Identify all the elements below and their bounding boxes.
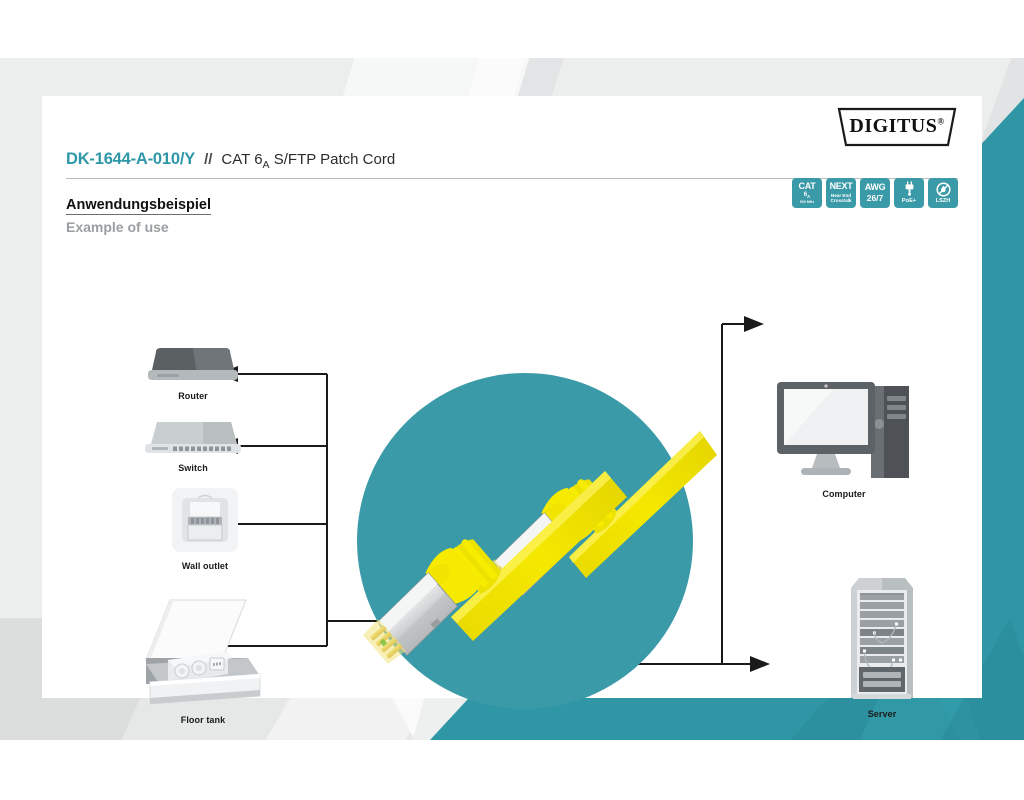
logo-wordmark: DIGITUS®: [836, 115, 958, 138]
badge-caption: LSZH: [936, 199, 951, 205]
switch-icon: [143, 418, 243, 458]
floor-tank-icon: [136, 598, 270, 710]
device-label: Wall outlet: [150, 561, 260, 571]
router-icon: [144, 346, 242, 386]
wall-outlet-icon: [168, 484, 242, 556]
lszh-badge: LSZH: [928, 178, 958, 208]
title-separator: //: [204, 151, 212, 168]
awg-badge: AWG 26/7: [860, 178, 890, 208]
device-label: Switch: [138, 463, 248, 473]
product-sku: DK-1644-A-010/Y: [66, 150, 195, 169]
digitus-logo: DIGITUS®: [836, 106, 958, 148]
device-label: Floor tank: [118, 715, 288, 725]
section-heading: Anwendungsbeispiel Example of use: [66, 196, 211, 235]
section-title-de: Anwendungsbeispiel: [66, 197, 211, 215]
feature-badges: CAT 6A 500 MHz NEXT Near End Crosstalk A…: [792, 178, 958, 208]
arrowhead-server: [750, 656, 770, 672]
no-halogen-icon: [936, 182, 951, 197]
section-title-en: Example of use: [66, 219, 211, 235]
badge-line-1: NEXT: [830, 182, 853, 191]
device-switch: Switch: [138, 418, 248, 473]
computer-icon: [773, 376, 915, 484]
badge-line-3: 500 MHz: [800, 201, 814, 204]
cat6a-badge: CAT 6A 500 MHz: [792, 178, 822, 208]
arrowhead-computer: [744, 316, 764, 332]
product-title-row: DK-1644-A-010/Y // CAT 6A S/FTP Patch Co…: [66, 150, 958, 179]
device-label: Computer: [764, 489, 924, 499]
datasheet-page: DIGITUS® DK-1644-A-010/Y // CAT 6A S/FTP…: [0, 0, 1024, 800]
badge-line-1: AWG: [865, 183, 886, 192]
device-computer: Computer: [764, 376, 924, 499]
badge-line-1: CAT: [799, 182, 816, 191]
power-plug-icon: [903, 181, 916, 197]
next-badge: NEXT Near End Crosstalk: [826, 178, 856, 208]
badge-line-2: Near End Crosstalk: [826, 193, 856, 204]
product-name: CAT 6A S/FTP Patch Cord: [221, 151, 395, 171]
device-wall-outlet: Wall outlet: [150, 484, 260, 571]
badge-line-2: 6A: [804, 192, 811, 200]
patch-cord-illustration: [355, 371, 695, 711]
badge-caption: PoE+: [902, 199, 916, 205]
badge-line-2: 26/7: [867, 194, 884, 203]
device-label: Router: [138, 391, 248, 401]
content-card: DIGITUS® DK-1644-A-010/Y // CAT 6A S/FTP…: [42, 96, 982, 698]
product-hero: [355, 371, 695, 711]
device-server: Server: [802, 574, 962, 719]
poe-badge: PoE+: [894, 178, 924, 208]
application-diagram: Router Switch: [42, 246, 982, 686]
device-router: Router: [138, 346, 248, 401]
device-label: Server: [802, 709, 962, 719]
device-floor-tank: Floor tank: [118, 598, 288, 725]
server-icon: [843, 574, 921, 704]
